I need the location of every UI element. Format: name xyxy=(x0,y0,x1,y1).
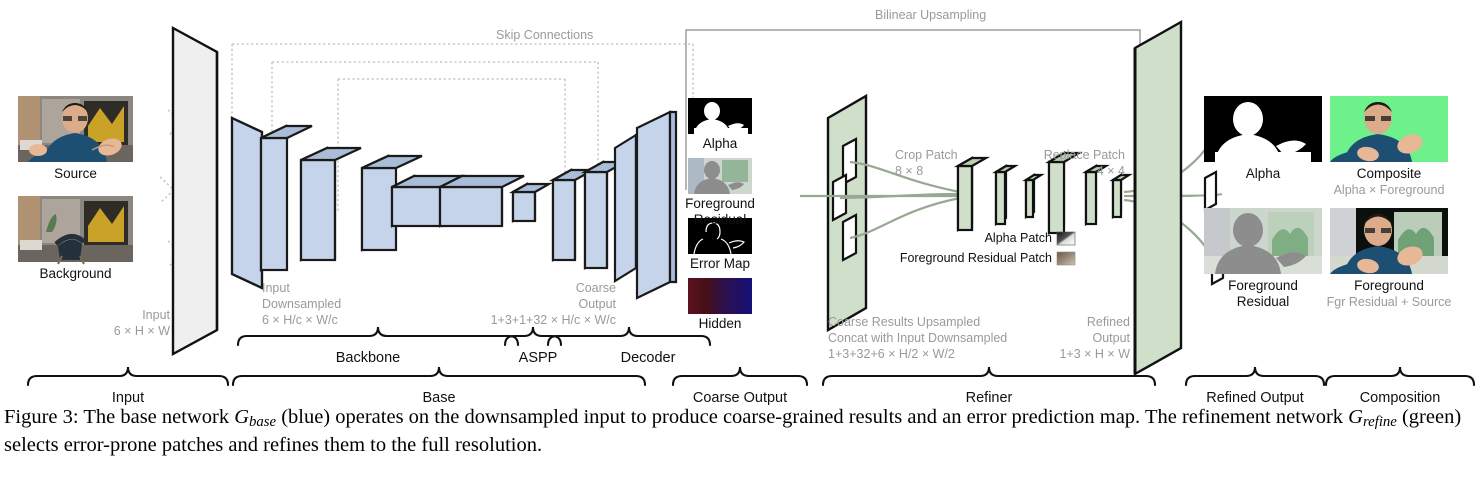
refiner-input-line3: 1+3+32+6 × H/2 × W/2 xyxy=(828,347,955,362)
legend-fgr-patch-label: Foreground Residual Patch xyxy=(900,251,1052,265)
caption-g-base-sub: base xyxy=(249,414,276,430)
thumbnail-refined-foreground xyxy=(1330,208,1448,275)
brace-input xyxy=(28,367,228,385)
brace-composition xyxy=(1326,367,1474,385)
refined-output-line1: Refined xyxy=(1040,315,1130,330)
figure-caption: Figure 3: The base network Gbase (blue) … xyxy=(4,404,1478,459)
refined-foreground-sub: Fgr Residual + Source xyxy=(1322,295,1456,310)
refined-output-line2: Output xyxy=(1040,331,1130,346)
crop-patch-label: Crop Patch xyxy=(895,148,958,163)
coarse-output-line1: Coarse xyxy=(546,281,616,296)
refined-alpha-label: Alpha xyxy=(1204,166,1322,182)
refined-foreground-label: Foreground xyxy=(1330,278,1448,294)
thumbnail-coarse-alpha xyxy=(688,98,752,134)
caption-line1-mid: (blue) operates on the downsampled input… xyxy=(276,406,1140,428)
crop-patch-curves xyxy=(800,162,960,238)
refined-output-line3: 1+3 × H × W xyxy=(1022,347,1130,362)
brace-label-decoder: Decoder xyxy=(588,350,708,367)
caption-g-refine: G xyxy=(1348,406,1363,428)
thumbnail-refined-composite xyxy=(1330,96,1448,163)
refiner-input-line2: Concat with Input Downsampled xyxy=(828,331,1007,346)
input-downsampled-line2: Downsampled xyxy=(262,297,341,312)
base-network-blue-blocks xyxy=(232,112,676,298)
background-label: Background xyxy=(8,266,143,282)
coarse-fgr-label: ForegroundResidual xyxy=(668,196,772,228)
refined-fgr-label: ForegroundResidual xyxy=(1204,278,1322,310)
legend-swatches xyxy=(1057,232,1075,265)
thumbnail-background xyxy=(18,196,133,264)
refined-composite-label: Composite xyxy=(1330,166,1448,182)
legend-alpha-patch: Alpha Patch xyxy=(880,231,1052,245)
coarse-output-line3: 1+3+1+32 × H/c × W/c xyxy=(466,313,616,328)
figure-3-architecture-diagram: Skip Connections Bilinear Upsampling Sou… xyxy=(0,0,1481,486)
brace-decoder xyxy=(548,327,710,345)
thumbnail-refined-fgr xyxy=(1204,208,1322,274)
thumbnail-coarse-hidden xyxy=(688,278,752,314)
caption-g-base: G xyxy=(234,406,249,428)
brace-label-aspp: ASPP xyxy=(488,350,588,367)
source-label: Source xyxy=(18,166,133,182)
thumbnail-coarse-fgr xyxy=(688,158,752,194)
caption-line1-pre: Figure 3: The base network xyxy=(4,406,234,428)
skip-connections-label: Skip Connections xyxy=(496,28,593,43)
input-plane xyxy=(173,28,217,354)
thumbnail-refined-alpha xyxy=(1204,96,1322,162)
caption-g-refine-sub: refine xyxy=(1363,414,1397,430)
brace-refined-output xyxy=(1186,367,1324,385)
coarse-output-line2: Output xyxy=(546,297,616,312)
replace-patch-label: Replace Patch xyxy=(1000,148,1125,163)
coarse-errormap-label: Error Map xyxy=(678,256,762,272)
legend-fgr-patch: Foreground Residual Patch xyxy=(880,251,1052,265)
bilinear-upsampling-label: Bilinear Upsampling xyxy=(875,8,986,23)
input-downsampled-line3: 6 × H/c × W/c xyxy=(262,313,338,328)
coarse-hidden-label: Hidden xyxy=(688,316,752,332)
thumbnail-source xyxy=(18,96,133,162)
input-tensor-line2: 6 × H × W xyxy=(90,324,170,339)
crop-patch-size: 8 × 8 xyxy=(895,164,923,179)
brace-coarse-output xyxy=(673,367,807,385)
brace-label-backbone: Backbone xyxy=(258,350,478,367)
braces-group xyxy=(28,327,1474,385)
coarse-alpha-label: Alpha xyxy=(688,136,752,152)
refined-composite-sub: Alpha × Foreground xyxy=(1330,183,1448,198)
brace-backbone xyxy=(238,327,518,345)
refined-output-plane xyxy=(1135,22,1223,374)
input-downsampled-line1: Input xyxy=(262,281,290,296)
input-tensor-line1: Input xyxy=(126,308,170,323)
legend-alpha-patch-label: Alpha Patch xyxy=(985,231,1052,245)
caption-line2-pre: The refinement network xyxy=(1145,406,1348,428)
replace-patch-size: 4 × 4 xyxy=(1000,164,1125,179)
refiner-input-plane xyxy=(828,96,866,330)
brace-refiner xyxy=(823,367,1155,385)
brace-base xyxy=(233,367,645,385)
refiner-input-line1: Coarse Results Upsampled xyxy=(828,315,980,330)
